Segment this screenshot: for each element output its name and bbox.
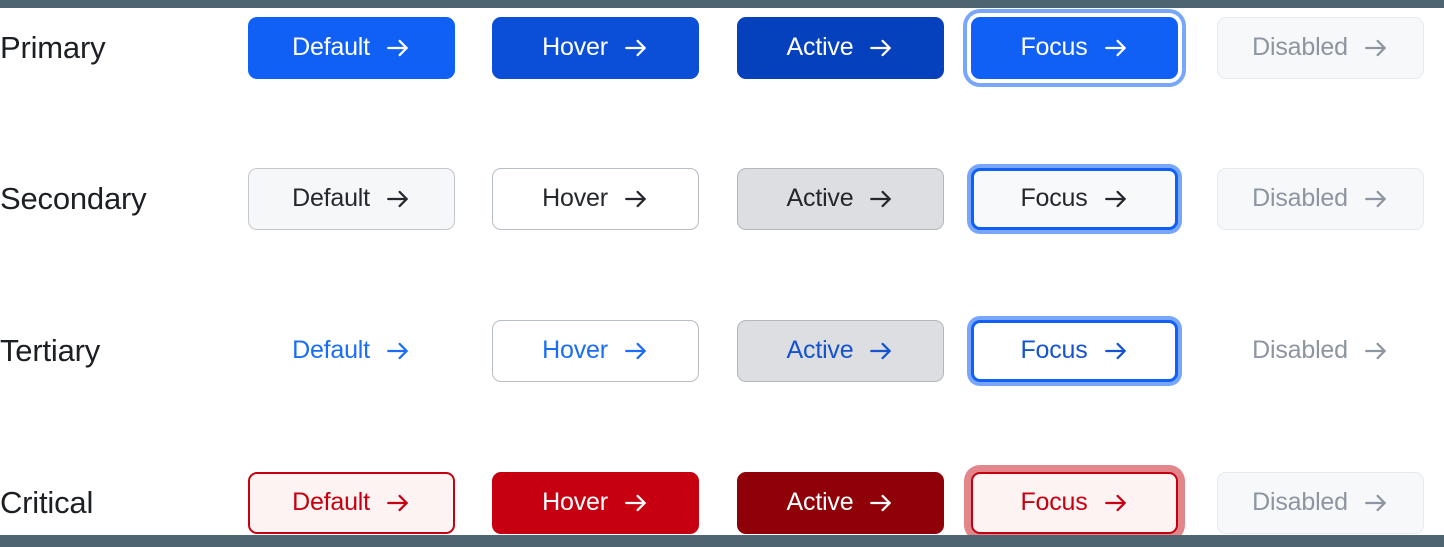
bottom-edge-bar — [0, 535, 1444, 547]
button-label: Default — [292, 336, 370, 365]
button-critical-active[interactable]: Active — [737, 472, 944, 534]
arrow-right-icon — [1103, 35, 1129, 61]
arrow-right-icon — [868, 338, 894, 364]
arrow-right-icon — [623, 338, 649, 364]
arrow-right-icon — [623, 35, 649, 61]
arrow-right-icon — [623, 186, 649, 212]
button-label: Active — [787, 336, 854, 365]
cell-tertiary-default: Default — [248, 303, 455, 398]
button-label: Hover — [542, 184, 608, 213]
cell-primary-disabled: Disabled — [1217, 0, 1424, 95]
cell-secondary-hover: Hover — [492, 151, 699, 246]
button-tertiary-active[interactable]: Active — [737, 320, 944, 382]
button-label: Hover — [542, 33, 608, 62]
cell-primary-hover: Hover — [492, 0, 699, 95]
button-primary-disabled: Disabled — [1217, 17, 1424, 79]
button-label: Active — [787, 33, 854, 62]
arrow-right-icon — [868, 186, 894, 212]
button-label: Hover — [542, 336, 608, 365]
arrow-right-icon — [868, 35, 894, 61]
button-label: Hover — [542, 488, 608, 517]
button-primary-hover[interactable]: Hover — [492, 17, 699, 79]
button-primary-focus[interactable]: Focus — [971, 17, 1178, 79]
cell-critical-focus: Focus — [971, 455, 1178, 547]
button-secondary-hover[interactable]: Hover — [492, 168, 699, 230]
cell-secondary-disabled: Disabled — [1217, 151, 1424, 246]
button-matrix-grid: Primary Default Hover — [0, 0, 1444, 547]
cell-critical-disabled: Disabled — [1217, 455, 1424, 547]
button-secondary-focus[interactable]: Focus — [971, 168, 1178, 230]
button-row-primary: Primary Default Hover — [0, 0, 1444, 95]
button-critical-default[interactable]: Default — [248, 472, 455, 534]
button-label: Focus — [1020, 33, 1087, 62]
arrow-right-icon — [385, 35, 411, 61]
button-row-critical: Critical Default Hover — [0, 455, 1444, 547]
cell-primary-active: Active — [737, 0, 944, 95]
arrow-right-icon — [1103, 338, 1129, 364]
button-label: Disabled — [1252, 488, 1348, 517]
cell-tertiary-focus: Focus — [971, 303, 1178, 398]
button-tertiary-hover[interactable]: Hover — [492, 320, 699, 382]
button-label: Disabled — [1252, 336, 1348, 365]
arrow-right-icon — [1103, 186, 1129, 212]
arrow-right-icon — [1103, 490, 1129, 516]
button-tertiary-disabled: Disabled — [1217, 320, 1424, 382]
row-label-critical: Critical — [0, 455, 240, 547]
button-label: Focus — [1020, 336, 1087, 365]
top-edge-bar — [0, 0, 1444, 8]
button-label: Default — [292, 33, 370, 62]
cell-secondary-default: Default — [248, 151, 455, 246]
button-tertiary-default[interactable]: Default — [248, 320, 455, 382]
button-critical-hover[interactable]: Hover — [492, 472, 699, 534]
cell-critical-default: Default — [248, 455, 455, 547]
row-label-tertiary: Tertiary — [0, 303, 240, 398]
arrow-right-icon — [385, 338, 411, 364]
button-primary-active[interactable]: Active — [737, 17, 944, 79]
arrow-right-icon — [868, 490, 894, 516]
button-secondary-disabled: Disabled — [1217, 168, 1424, 230]
button-tertiary-focus[interactable]: Focus — [971, 320, 1178, 382]
row-label-primary: Primary — [0, 0, 240, 95]
cell-tertiary-disabled: Disabled — [1217, 303, 1424, 398]
arrow-right-icon — [1363, 338, 1389, 364]
button-row-secondary: Secondary Default Hover — [0, 151, 1444, 246]
button-state-matrix: Primary Default Hover — [0, 0, 1444, 547]
arrow-right-icon — [385, 490, 411, 516]
row-label-secondary: Secondary — [0, 151, 240, 246]
cell-secondary-focus: Focus — [971, 151, 1178, 246]
button-label: Active — [787, 184, 854, 213]
button-row-tertiary: Tertiary Default Hover — [0, 303, 1444, 398]
button-label: Active — [787, 488, 854, 517]
button-secondary-active[interactable]: Active — [737, 168, 944, 230]
cell-tertiary-hover: Hover — [492, 303, 699, 398]
cell-critical-hover: Hover — [492, 455, 699, 547]
cell-primary-focus: Focus — [971, 0, 1178, 95]
cell-critical-active: Active — [737, 455, 944, 547]
cell-tertiary-active: Active — [737, 303, 944, 398]
arrow-right-icon — [385, 186, 411, 212]
button-label: Default — [292, 488, 370, 517]
arrow-right-icon — [623, 490, 649, 516]
button-critical-focus[interactable]: Focus — [971, 472, 1178, 534]
arrow-right-icon — [1363, 490, 1389, 516]
button-label: Focus — [1020, 488, 1087, 517]
cell-secondary-active: Active — [737, 151, 944, 246]
arrow-right-icon — [1363, 35, 1389, 61]
button-secondary-default[interactable]: Default — [248, 168, 455, 230]
button-critical-disabled: Disabled — [1217, 472, 1424, 534]
button-label: Disabled — [1252, 33, 1348, 62]
button-label: Focus — [1020, 184, 1087, 213]
arrow-right-icon — [1363, 186, 1389, 212]
button-primary-default[interactable]: Default — [248, 17, 455, 79]
button-label: Disabled — [1252, 184, 1348, 213]
button-label: Default — [292, 184, 370, 213]
cell-primary-default: Default — [248, 0, 455, 95]
